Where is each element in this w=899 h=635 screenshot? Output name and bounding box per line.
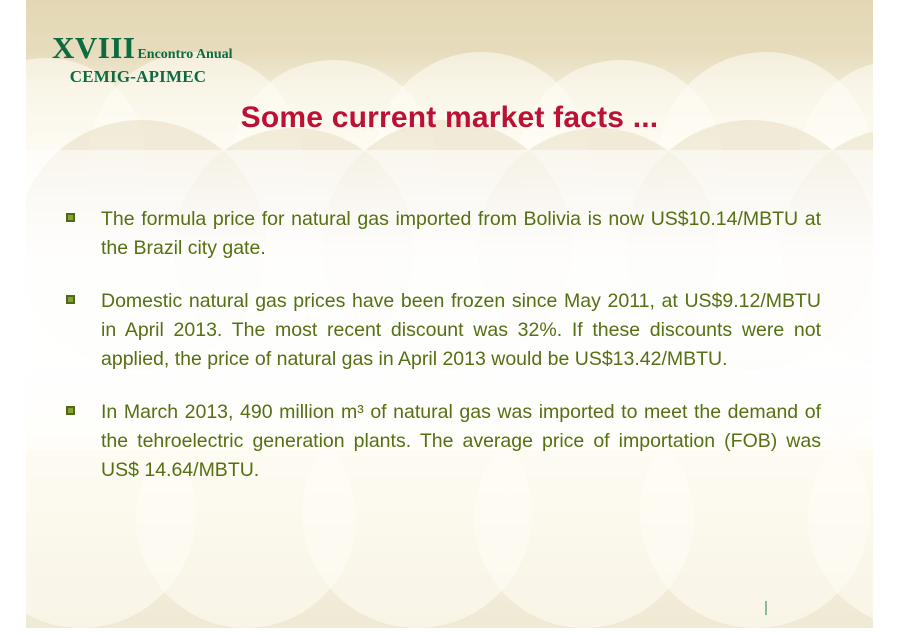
list-item: Domestic natural gas prices have been fr… [66,287,821,374]
slide-canvas: XVIIIEncontro Anual CEMIG-APIMEC Some cu… [0,0,899,635]
event-logo: XVIIIEncontro Anual CEMIG-APIMEC [52,32,282,85]
logo-top-line: XVIIIEncontro Anual [52,32,282,63]
square-bullet-icon [66,213,75,222]
list-item: The formula price for natural gas import… [66,205,821,263]
bullet-list: The formula price for natural gas import… [66,205,821,509]
logo-organization: CEMIG-APIMEC [52,68,224,85]
page-title: Some current market facts ... [0,101,899,135]
logo-roman-numeral: XVIII [52,30,135,65]
square-bullet-icon [66,295,75,304]
list-item-text: The formula price for natural gas import… [101,205,821,263]
square-bullet-icon [66,406,75,415]
logo-event-name: Encontro Anual [137,47,232,62]
list-item-text: Domestic natural gas prices have been fr… [101,287,821,374]
list-item: In March 2013, 490 million m³ of natural… [66,398,821,485]
list-item-text: In March 2013, 490 million m³ of natural… [101,398,821,485]
slide-number-mark [765,601,767,615]
